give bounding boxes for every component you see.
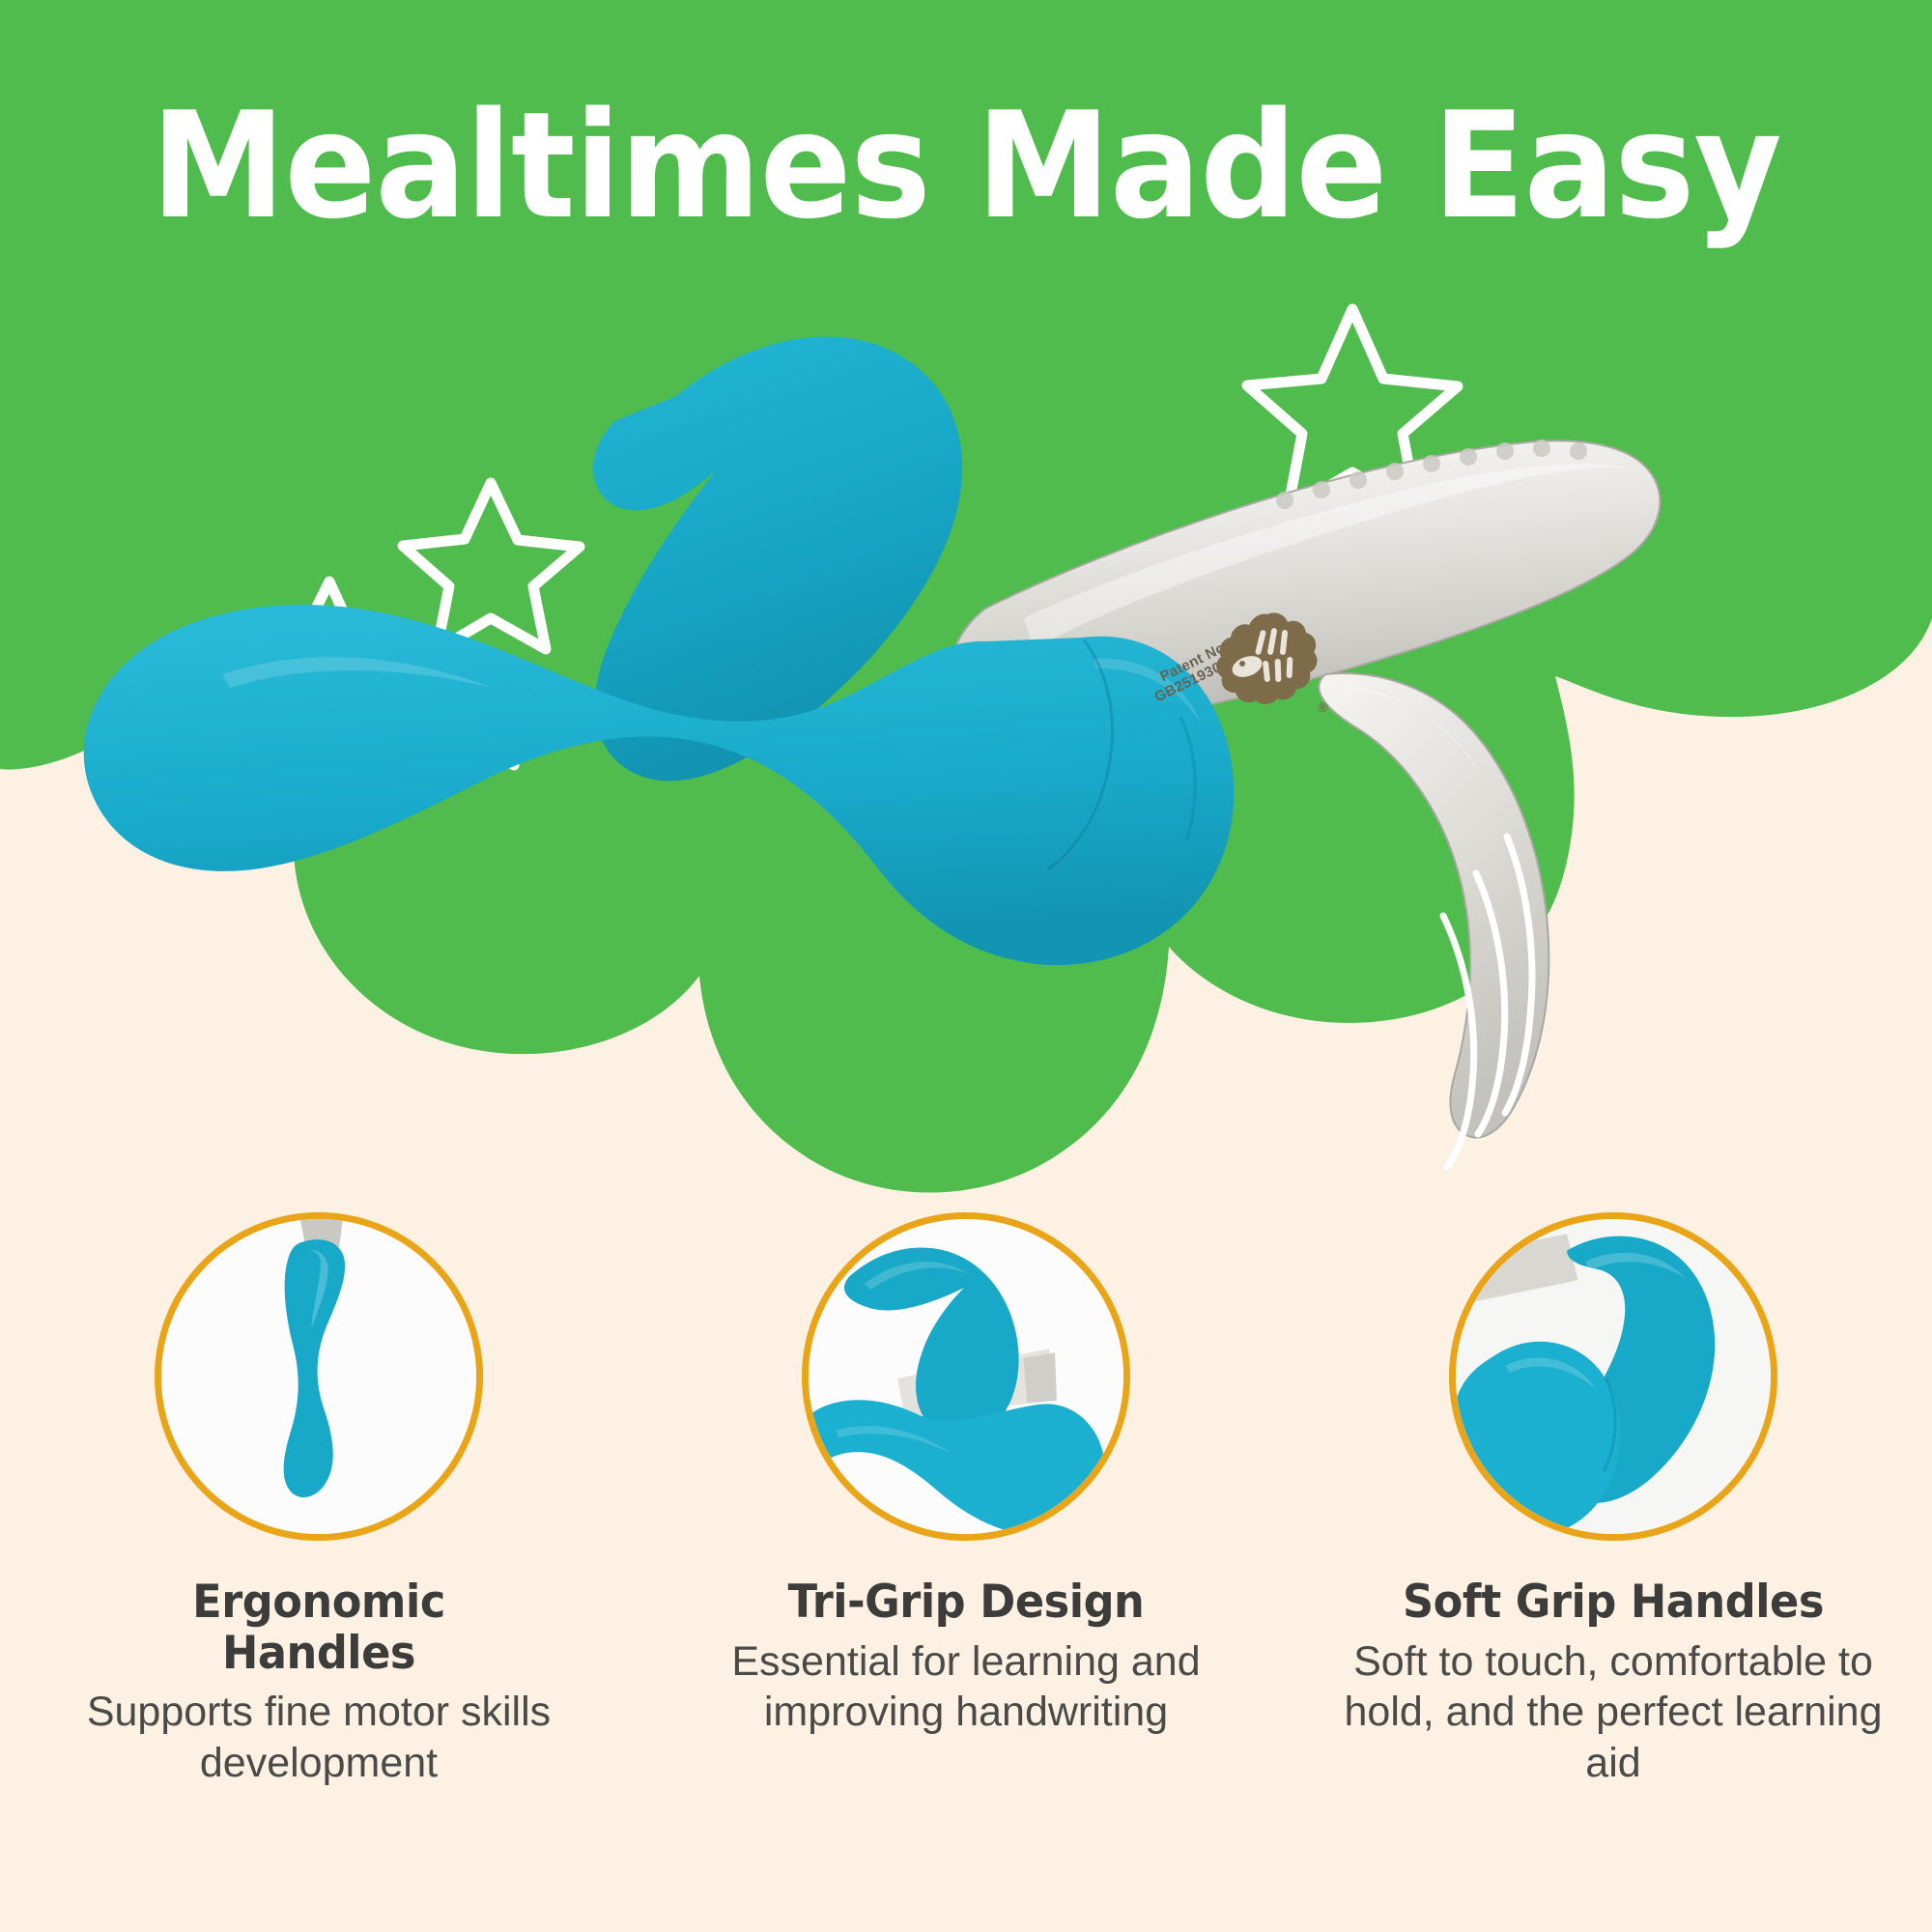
cutlery-illustration <box>0 290 1932 1217</box>
feature-image-tri-grip-design <box>802 1212 1130 1541</box>
feature-body-soft-grip-handles: Soft to touch, comfortable to hold, and … <box>1304 1636 1922 1788</box>
feature-title-tri-grip-design: Tri-Grip Design <box>672 1577 1260 1629</box>
feature-body-tri-grip-design: Essential for learning and improving han… <box>657 1636 1275 1738</box>
fork-head <box>1319 673 1548 1167</box>
trademark-symbol: ® <box>1318 699 1327 715</box>
product-hero-photo: Patent No: GB2519300 ® <box>0 290 1932 1217</box>
feature-card-soft-grip-handles: Soft Grip Handles Soft to touch, comfort… <box>1304 1212 1922 1788</box>
feature-card-tri-grip-design: Tri-Grip Design Essential for learning a… <box>657 1212 1275 1738</box>
feature-card-ergonomic-handles: Ergonomic Handles Supports fine motor sk… <box>10 1212 628 1788</box>
feature-image-ergonomic-handles <box>155 1212 483 1541</box>
feature-image-soft-grip-handles <box>1449 1212 1777 1541</box>
feature-title-ergonomic-handles: Ergonomic Handles <box>25 1577 612 1679</box>
feature-title-soft-grip-handles: Soft Grip Handles <box>1320 1577 1907 1629</box>
page-title: Mealtimes Made Easy <box>77 93 1855 240</box>
feature-list: Ergonomic Handles Supports fine motor sk… <box>0 1212 1932 1932</box>
brand-badge-logo <box>1215 609 1320 713</box>
product-marketing-image: Mealtimes Made Easy <box>0 0 1932 1932</box>
feature-body-ergonomic-handles: Supports fine motor skills development <box>10 1687 628 1788</box>
